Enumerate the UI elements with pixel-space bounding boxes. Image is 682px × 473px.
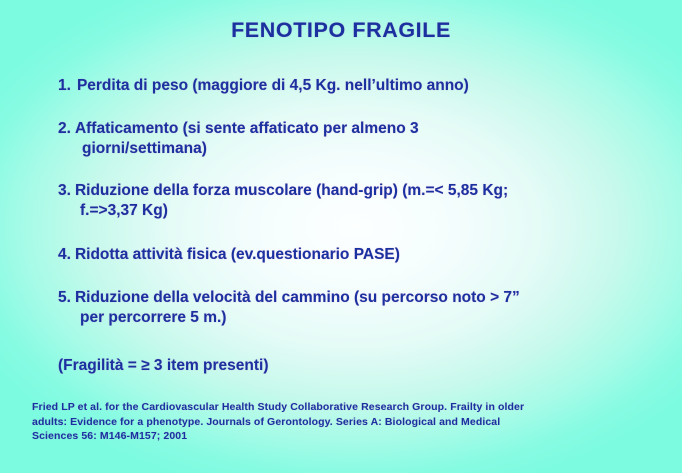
citation-line: adults: Evidence for a phenotype. Journa…	[32, 415, 662, 430]
list-item-text: Ridotta attività fisica (ev.questionario…	[75, 246, 400, 263]
list-item: 1.Perdita di peso (maggiore di 4,5 Kg. n…	[58, 76, 658, 96]
criteria-list: 1.Perdita di peso (maggiore di 4,5 Kg. n…	[58, 76, 658, 328]
slide-canvas: FENOTIPO FRAGILE 1.Perdita di peso (magg…	[0, 0, 682, 473]
page-title: FENOTIPO FRAGILE	[0, 18, 682, 43]
list-item-text: Riduzione della forza muscolare (hand-gr…	[75, 182, 508, 199]
list-item: 2.Affaticamento (si sente affaticato per…	[58, 119, 658, 159]
reference-citation: Fried LP et al. for the Cardiovascular H…	[32, 400, 662, 444]
list-item-text: Perdita di peso (maggiore di 4,5 Kg. nel…	[77, 77, 469, 94]
list-item: 5.Riduzione della velocità del cammino (…	[58, 288, 658, 328]
citation-line: Sciences 56: M146-M157; 2001	[32, 429, 662, 444]
list-item-number: 3.	[58, 181, 71, 201]
list-item-text: Riduzione della velocità del cammino (su…	[75, 289, 520, 306]
list-item-text-continued: per percorrere 5 m.)	[58, 308, 658, 328]
list-item-number: 1.	[58, 76, 71, 96]
list-item-number: 5.	[58, 288, 71, 308]
list-item-text-continued: giorni/settimana)	[58, 139, 658, 159]
list-item: 4.Ridotta attività fisica (ev.questionar…	[58, 245, 658, 265]
list-item-text: Affaticamento (si sente affaticato per a…	[75, 120, 419, 137]
frailty-definition-note: (Fragilità = ≥ 3 item presenti)	[58, 356, 269, 376]
list-item-text-continued: f.=>3,37 Kg)	[58, 201, 658, 221]
list-item-number: 2.	[58, 119, 71, 139]
list-item: 3.Riduzione della forza muscolare (hand-…	[58, 181, 658, 221]
citation-line: Fried LP et al. for the Cardiovascular H…	[32, 400, 662, 415]
list-item-number: 4.	[58, 245, 71, 265]
